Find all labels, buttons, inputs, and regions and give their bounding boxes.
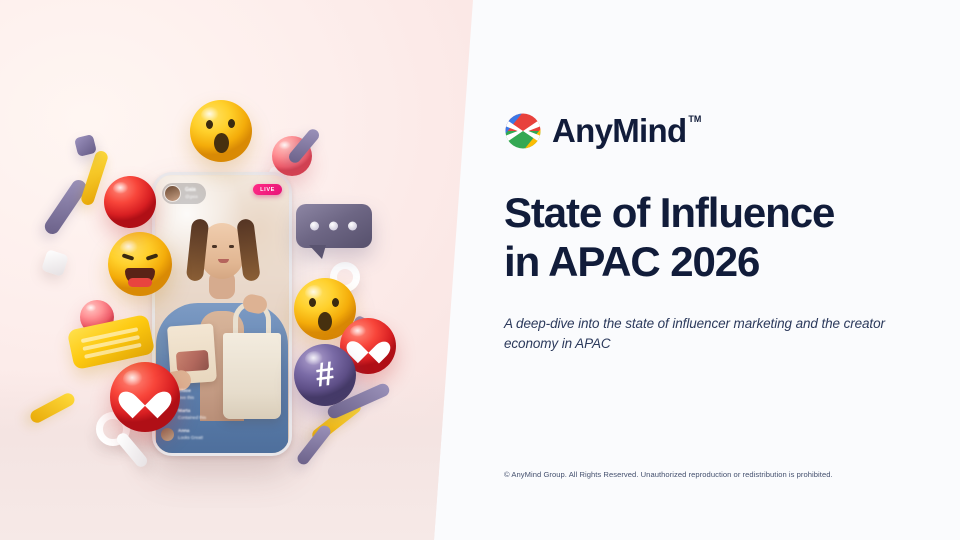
comment-message: love this: [178, 395, 194, 401]
comment-text: Chloe love this: [178, 388, 194, 400]
trademark-symbol: TM: [688, 115, 701, 124]
title-slide: Gaia @gaia LIVE Chloe love this: [0, 0, 960, 540]
page-title: State of Influence in APAC 2026: [504, 188, 924, 286]
wow-emoji-icon: [190, 100, 252, 162]
stream-user-names: Gaia @gaia: [185, 187, 198, 199]
hero-image-panel: Gaia @gaia LIVE Chloe love this: [0, 0, 480, 540]
comment-message: Looks Great!: [178, 435, 203, 441]
avatar: [161, 428, 174, 441]
title-line-1: State of Influence: [504, 188, 924, 237]
creator-eye: [212, 245, 217, 248]
stream-user-chip[interactable]: Gaia @gaia: [162, 183, 206, 204]
creator-eye: [229, 245, 234, 248]
purple-cube-icon: [74, 134, 97, 157]
purple-stick-icon: [42, 177, 89, 237]
anymind-circle-logo-icon: [504, 112, 542, 150]
red-sphere-icon: [104, 176, 156, 228]
page-subtitle: A deep-dive into the state of influencer…: [504, 314, 904, 355]
comment-text: Marta Contained this: [178, 408, 206, 420]
comment-text: Anna Looks Great!: [178, 428, 203, 440]
tote-bag: [223, 333, 281, 419]
list-item: Anna Looks Great!: [161, 428, 206, 441]
avatar: [164, 185, 181, 202]
chat-bubble-icon: [296, 204, 372, 248]
brand-wordmark: AnyMind: [552, 112, 686, 150]
white-cube-icon: [41, 249, 69, 277]
hashtag-sphere-icon: #: [294, 344, 356, 406]
comment-message: Contained this: [178, 415, 206, 421]
live-badge: LIVE: [253, 184, 282, 195]
brand-logo: AnyMind TM: [504, 112, 701, 150]
laughing-emoji-icon: [108, 232, 172, 296]
title-line-2: in APAC 2026: [504, 237, 924, 286]
copyright-notice: © AnyMind Group. All Rights Reserved. Un…: [504, 470, 924, 479]
stream-user-handle: @gaia: [185, 194, 198, 200]
